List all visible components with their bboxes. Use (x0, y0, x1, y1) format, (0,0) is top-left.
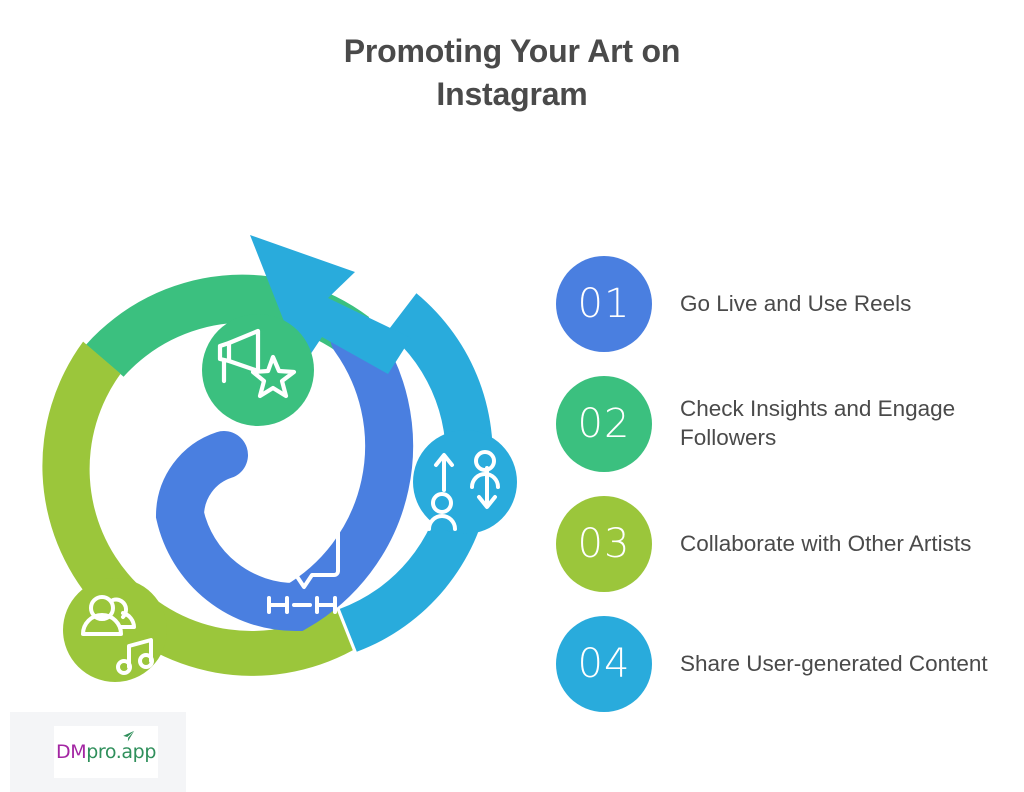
list-item[interactable]: 04 Share User-generated Content (556, 604, 1006, 724)
step-label-04: Share User-generated Content (680, 650, 1006, 679)
step-label-01: Go Live and Use Reels (680, 290, 1006, 319)
list-item[interactable]: 03 Collaborate with Other Artists (556, 484, 1006, 604)
step-badge-02: 02 (556, 376, 652, 472)
page-title: Promoting Your Art on Instagram (0, 30, 1024, 116)
logo-text-primary: DM (56, 741, 86, 763)
step-number: 04 (578, 641, 631, 687)
list-item[interactable]: 02 Check Insights and Engage Followers (556, 364, 1006, 484)
icon-bubble-megaphone (202, 314, 314, 426)
icon-bubble-group-music (63, 578, 167, 682)
step-badge-01: 01 (556, 256, 652, 352)
step-number: 01 (578, 281, 631, 327)
cycle-diagram (10, 215, 540, 715)
logo-card[interactable]: DMpro.app (54, 726, 158, 778)
step-label-02: Check Insights and Engage Followers (680, 395, 1006, 453)
step-number: 03 (578, 521, 631, 567)
step-badge-03: 03 (556, 496, 652, 592)
step-number: 02 (578, 401, 631, 447)
logo-text-secondary: pro.app (86, 741, 156, 763)
logo-wordmark: DMpro.app (56, 741, 156, 763)
page-title-line-2: Instagram (0, 73, 1024, 116)
step-label-03: Collaborate with Other Artists (680, 530, 1006, 559)
step-badge-04: 04 (556, 616, 652, 712)
step-list: 01 Go Live and Use Reels 02 Check Insigh… (556, 244, 1006, 724)
logo-watermark-frame: DMpro.app (10, 712, 186, 792)
page-title-line-1: Promoting Your Art on (0, 30, 1024, 73)
paper-plane-icon (122, 730, 135, 743)
list-item[interactable]: 01 Go Live and Use Reels (556, 244, 1006, 364)
icon-bubble-followers (413, 430, 517, 534)
